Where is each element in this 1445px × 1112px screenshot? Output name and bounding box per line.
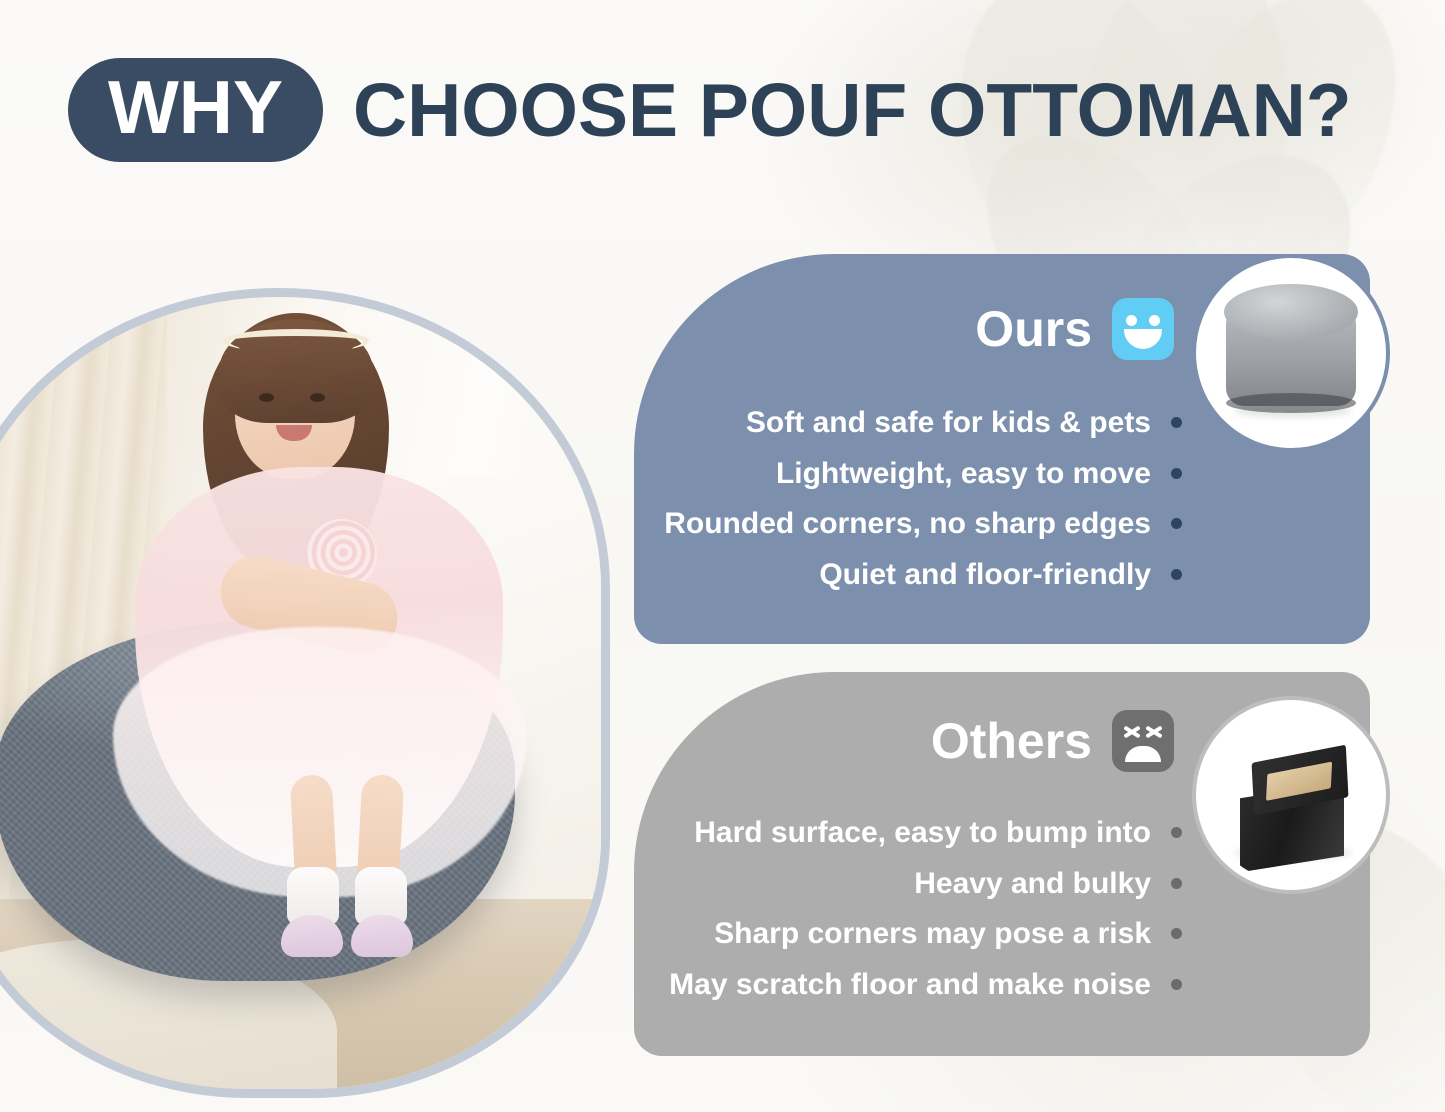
bullet-label: Rounded corners, no sharp edges <box>664 505 1151 543</box>
infographic-poster: WHY CHOOSE POUF OTTOMAN? <box>0 0 1445 1112</box>
panel-ours-title: Ours <box>975 304 1092 354</box>
bullet-label: Heavy and bulky <box>914 865 1151 903</box>
smiling-face-icon <box>1112 298 1174 360</box>
panel-others-bullets: Hard surface, easy to bump into Heavy an… <box>669 814 1182 1003</box>
panel-ours-header: Ours <box>975 298 1174 360</box>
hero-lifestyle-photo <box>0 288 610 1098</box>
list-item: Heavy and bulky <box>914 865 1182 903</box>
bullet-dot-icon <box>1171 468 1182 479</box>
why-badge: WHY <box>68 58 323 162</box>
bullet-dot-icon <box>1171 417 1182 428</box>
bullet-label: Sharp corners may pose a risk <box>714 915 1151 953</box>
bullet-label: Soft and safe for kids & pets <box>746 404 1151 442</box>
bullet-dot-icon <box>1171 979 1182 990</box>
panel-ours-bullets: Soft and safe for kids & pets Lightweigh… <box>664 404 1182 593</box>
eye-shape <box>259 393 274 402</box>
round-pouf-ottoman-shape <box>1226 310 1356 406</box>
title-text: CHOOSE POUF OTTOMAN? <box>353 73 1352 148</box>
thumbnail-others-product <box>1196 700 1386 890</box>
eye-shape <box>310 393 325 402</box>
list-item: Quiet and floor-friendly <box>819 556 1182 594</box>
square-storage-ottoman-shape <box>1230 756 1358 860</box>
bullet-label: Lightweight, easy to move <box>776 455 1151 493</box>
thumbnail-image-others <box>1204 708 1378 882</box>
thumbnail-ours-product <box>1196 258 1386 448</box>
panel-others-header: Others <box>931 710 1174 772</box>
confounded-face-icon <box>1112 710 1174 772</box>
panel-others-title: Others <box>931 716 1092 766</box>
emoji-eye <box>1126 315 1137 326</box>
bullet-dot-icon <box>1171 518 1182 529</box>
bullet-label: Quiet and floor-friendly <box>819 556 1151 594</box>
emoji-smile <box>1124 329 1162 349</box>
bullet-label: May scratch floor and make noise <box>669 966 1151 1004</box>
bullet-dot-icon <box>1171 878 1182 889</box>
emoji-x-eye <box>1123 724 1141 739</box>
pearl-headband <box>223 329 369 353</box>
list-item: May scratch floor and make noise <box>669 966 1182 1004</box>
list-item: Soft and safe for kids & pets <box>746 404 1182 442</box>
ottoman-lid-interior <box>1266 762 1332 801</box>
emoji-x-eye <box>1145 724 1163 739</box>
bullet-dot-icon <box>1171 569 1182 580</box>
thumbnail-image-ours <box>1204 266 1378 440</box>
child-model <box>107 307 527 1007</box>
emoji-eye <box>1149 315 1160 326</box>
bullet-dot-icon <box>1171 928 1182 939</box>
bullet-dot-icon <box>1171 827 1182 838</box>
list-item: Lightweight, easy to move <box>776 455 1182 493</box>
bullet-label: Hard surface, easy to bump into <box>694 814 1151 852</box>
list-item: Sharp corners may pose a risk <box>714 915 1182 953</box>
emoji-frown <box>1125 746 1161 762</box>
page-title: WHY CHOOSE POUF OTTOMAN? <box>68 58 1352 162</box>
list-item: Rounded corners, no sharp edges <box>664 505 1182 543</box>
list-item: Hard surface, easy to bump into <box>694 814 1182 852</box>
